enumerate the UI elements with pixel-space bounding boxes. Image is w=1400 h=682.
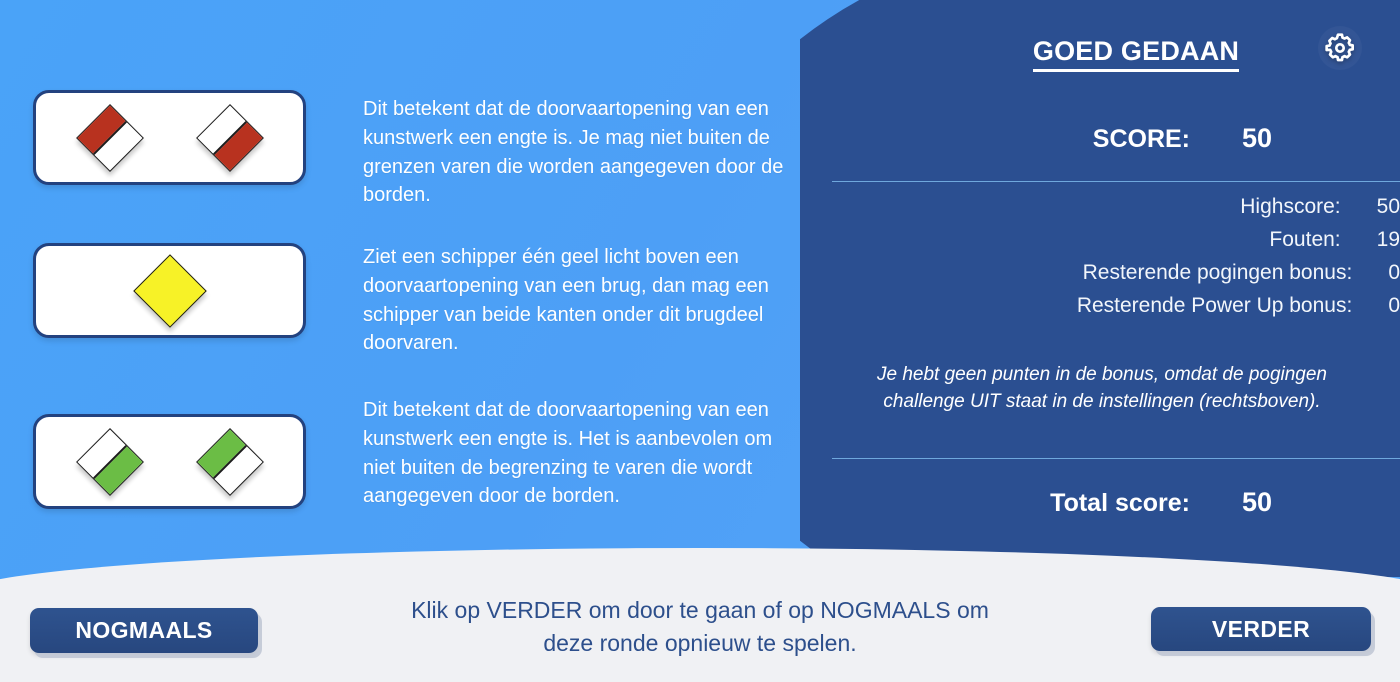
settings-button[interactable] — [1318, 26, 1362, 70]
bonus-note: Je hebt geen punten in de bonus, omdat d… — [840, 362, 1364, 416]
diamond-green-right-icon — [76, 428, 144, 496]
score-label: SCORE: — [970, 125, 1190, 154]
diamond-yellow-icon — [133, 254, 207, 328]
diamond-green-left-icon — [196, 428, 264, 496]
stat-label-fouten: Fouten: — [800, 228, 1341, 252]
sign-group-yellow — [36, 246, 303, 335]
stat-label-pogingen-bonus: Resterende pogingen bonus: — [800, 261, 1352, 285]
stats-list: Highscore: 50 Fouten: 19 Resterende pogi… — [800, 195, 1400, 327]
footer-hint: Klik op VERDER om door te gaan of op NOG… — [330, 594, 1070, 659]
diamond-red-left-icon — [76, 104, 144, 172]
table-row: Highscore: 50 — [800, 195, 1400, 219]
divider-bottom — [832, 458, 1400, 459]
divider-top — [832, 181, 1400, 182]
sign-description-2: Ziet een schipper één geel licht boven e… — [363, 243, 795, 358]
table-row: Fouten: 19 — [800, 228, 1400, 252]
total-score-row: Total score: 50 — [970, 487, 1400, 518]
retry-button[interactable]: NOGMAALS — [30, 608, 258, 653]
total-score-label: Total score: — [970, 489, 1190, 518]
sign-group-red — [36, 93, 303, 182]
stat-value-pogingen-bonus: 0 — [1388, 261, 1400, 285]
table-row: Resterende pogingen bonus: 0 — [800, 261, 1400, 285]
total-score-value: 50 — [1242, 487, 1272, 518]
stat-label-powerup-bonus: Resterende Power Up bonus: — [800, 294, 1352, 318]
sign-group-green — [36, 417, 303, 506]
page-title-text: GOED GEDAAN — [1033, 36, 1239, 72]
sign-card-green — [33, 414, 306, 509]
stat-value-powerup-bonus: 0 — [1388, 294, 1400, 318]
page-title: GOED GEDAAN — [800, 36, 1400, 67]
sign-description-1: Dit betekent dat de doorvaartopening van… — [363, 95, 795, 210]
stat-value-fouten: 19 — [1377, 228, 1400, 252]
score-row: SCORE: 50 — [970, 123, 1400, 154]
next-button[interactable]: VERDER — [1151, 607, 1371, 651]
sign-card-yellow — [33, 243, 306, 338]
gear-icon — [1323, 31, 1357, 65]
sign-card-red — [33, 90, 306, 185]
diamond-red-right-icon — [196, 104, 264, 172]
table-row: Resterende Power Up bonus: 0 — [800, 294, 1400, 318]
stat-label-highscore: Highscore: — [800, 195, 1341, 219]
stat-value-highscore: 50 — [1377, 195, 1400, 219]
sign-description-3: Dit betekent dat de doorvaartopening van… — [363, 396, 795, 511]
score-panel: GOED GEDAAN SCORE: 50 Highscore: 50 — [800, 0, 1400, 577]
game-result-screen: Dit betekent dat de doorvaartopening van… — [0, 0, 1400, 682]
score-value: 50 — [1242, 123, 1272, 154]
